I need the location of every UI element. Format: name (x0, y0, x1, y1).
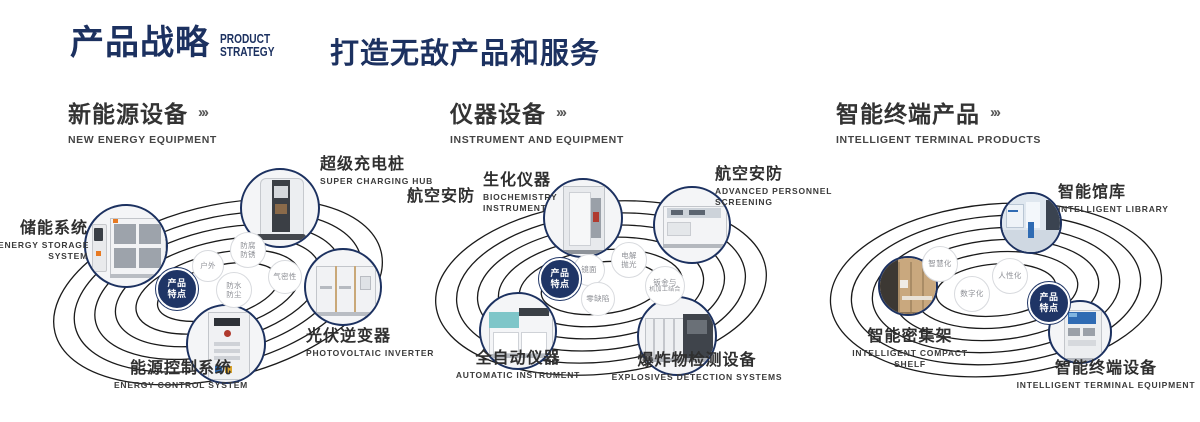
title-chinese: 产品战略 (70, 26, 210, 60)
title-english-line2: STRATEGY (220, 45, 274, 58)
headline: 打造无敌产品和服务 (330, 30, 600, 72)
node-label-cn: 航空安防 (395, 188, 475, 206)
product-features-badge: 产品 特点 (539, 258, 581, 300)
node-label-cn: 智能密集架 (830, 328, 990, 346)
section-heading-en: INSTRUMENT AND EQUIPMENT (450, 134, 624, 146)
node-label-energy-storage-system: 储能系统 ENERGY STORAGE SYSTEM (0, 220, 88, 261)
section-heading-cn: 仪器设备 ››› (450, 95, 624, 129)
cluster-new-energy: 储能系统 ENERGY STORAGE SYSTEM 超级充电桩 SUPER C… (20, 160, 420, 410)
node-label-biochemistry-instrument: 生化仪器 BIOCHEMISTRY INSTRUMENT (483, 172, 603, 213)
section-heading-cn: 新能源设备 ››› (68, 95, 217, 129)
node-label-cn: 智能馆库 (1058, 184, 1188, 202)
node-label-en: ENERGY CONTROL SYSTEM (86, 380, 276, 391)
feature-bubble-intelligent: 智慧化 (922, 246, 958, 282)
node-label-aviation-security-left: 航空安防 (395, 188, 475, 206)
node-label-cn: 储能系统 (0, 220, 88, 238)
section-heading-cn-text: 新能源设备 (68, 95, 188, 129)
node-label-en: INTELLIGENT TERMINAL EQUIPMENT (1016, 380, 1196, 391)
cluster-instrument: 生化仪器 BIOCHEMISTRY INSTRUMENT 航空安防 航空安防 A… (405, 160, 805, 410)
node-photovoltaic-inverter[interactable] (304, 248, 382, 326)
node-label-automatic-instrument: 全自动仪器 AUTOMATIC INSTRUMENT (433, 350, 603, 381)
node-label-cn: 智能终端设备 (1016, 360, 1196, 378)
chevron-right-icon: ››› (198, 104, 207, 121)
section-heading-instrument: 仪器设备 ››› INSTRUMENT AND EQUIPMENT (450, 95, 624, 146)
node-label-cn: 全自动仪器 (433, 350, 603, 368)
section-heading-cn-text: 仪器设备 (450, 95, 546, 129)
node-intelligent-library[interactable] (1000, 192, 1062, 254)
node-label-cn: 生化仪器 (483, 172, 603, 190)
node-label-intelligent-library: 智能馆库 INTELLIGENT LIBRARY (1058, 184, 1188, 215)
feature-bubble-digital: 数字化 (954, 276, 990, 312)
photovoltaic-inverter-photo (306, 250, 380, 324)
section-heading-en: INTELLIGENT TERMINAL PRODUCTS (836, 134, 1041, 146)
product-features-badge: 产品 特点 (1028, 282, 1070, 324)
node-label-energy-control-system: 能源控制系统 ENERGY CONTROL SYSTEM (86, 360, 276, 391)
feature-bubble-zero-defect: 零缺陷 (581, 282, 615, 316)
node-label-en: INTELLIGENT LIBRARY (1058, 204, 1188, 215)
node-label-explosives-detection-systems: 爆炸物检测设备 EXPLOSIVES DETECTION SYSTEMS (607, 352, 787, 383)
feature-bubble-sheetmetal-machining: 钣金与 机加工结合 (645, 266, 685, 306)
intelligent-library-photo (1002, 194, 1060, 252)
section-heading-cn: 智能终端产品 ››› (836, 95, 1041, 129)
title-english: PRODUCT STRATEGY (220, 32, 274, 58)
node-label-en: AUTOMATIC INSTRUMENT (433, 370, 603, 381)
node-label-en: ENERGY STORAGE SYSTEM (0, 240, 88, 261)
energy-storage-system-photo (86, 206, 166, 286)
section-heading-cn-text: 智能终端产品 (836, 95, 980, 129)
feature-bubble-waterproof: 防水 防尘 (216, 272, 252, 308)
section-heading-en: NEW ENERGY EQUIPMENT (68, 134, 217, 146)
section-heading-intelligent: 智能终端产品 ››› INTELLIGENT TERMINAL PRODUCTS (836, 95, 1041, 146)
feature-bubble-outdoor: 户外 (192, 250, 224, 282)
feature-bubble-anticorrosion: 防腐 防锈 (230, 232, 266, 268)
product-features-badge: 产品 特点 (156, 268, 198, 310)
node-label-intelligent-compact-shelf: 智能密集架 INTELLIGENT COMPACT SHELF (830, 328, 990, 369)
section-heading-new-energy: 新能源设备 ››› NEW ENERGY EQUIPMENT (68, 95, 217, 146)
page-title: 产品战略 PRODUCT STRATEGY (70, 26, 290, 60)
node-label-cn: 能源控制系统 (86, 360, 276, 378)
product-strategy-infographic: 产品战略 PRODUCT STRATEGY 打造无敌产品和服务 新能源设备 ››… (0, 0, 1200, 422)
node-label-en: EXPLOSIVES DETECTION SYSTEMS (607, 372, 787, 383)
node-label-en: BIOCHEMISTRY INSTRUMENT (483, 192, 603, 213)
node-label-intelligent-terminal-equipment: 智能终端设备 INTELLIGENT TERMINAL EQUIPMENT (1016, 360, 1196, 391)
feature-bubble-airtightness: 气密性 (268, 260, 302, 294)
cluster-intelligent: 智能馆库 INTELLIGENT LIBRARY 智能密集架 INTELLIGE… (800, 160, 1200, 410)
feature-bubble-electropolishing: 电解 抛光 (611, 242, 647, 278)
chevron-right-icon: ››› (990, 104, 999, 121)
feature-bubble-humanized: 人性化 (992, 258, 1028, 294)
node-energy-storage-system[interactable] (84, 204, 168, 288)
node-label-en: INTELLIGENT COMPACT SHELF (830, 348, 990, 369)
node-label-cn: 爆炸物检测设备 (607, 352, 787, 370)
chevron-right-icon: ››› (556, 104, 565, 121)
